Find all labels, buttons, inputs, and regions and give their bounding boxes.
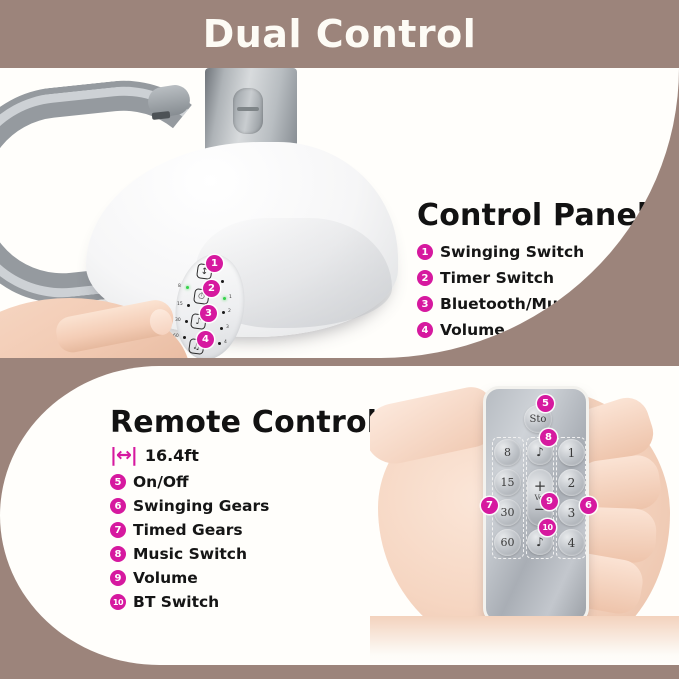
bullet-number: 8: [110, 546, 126, 562]
list-item: 9 Volume: [110, 569, 370, 587]
feature-label: BT Switch: [133, 593, 219, 611]
bullet-number: 4: [417, 322, 433, 338]
key-label: 2: [568, 476, 576, 490]
callout-badge-2: 2: [203, 280, 220, 297]
callout-badge-3: 3: [200, 305, 217, 322]
key-label: 4: [568, 536, 576, 550]
remote-callout-8: 8: [540, 429, 557, 446]
list-item: 1 Swinging Switch: [417, 243, 672, 261]
range-row: |↔| 16.4ft: [110, 446, 370, 465]
key-label: 60: [501, 536, 515, 549]
music-note-icon: ♪: [536, 445, 544, 459]
list-item: 10 BT Switch: [110, 593, 370, 611]
pole-latch-icon: [233, 88, 263, 134]
remote-feature-list: 5 On/Off 6 Swinging Gears 7 Timed Gears …: [110, 473, 370, 611]
feature-label: Volume: [133, 569, 198, 587]
pad-tick-speed-3: 3: [226, 325, 229, 330]
bullet-number: 7: [110, 522, 126, 538]
bullet-number: 3: [417, 296, 433, 312]
feature-label: Timer Switch: [440, 269, 554, 287]
range-value: 16.4ft: [145, 446, 199, 465]
list-item: 3 Bluetooth/Music Switch: [417, 295, 672, 313]
feature-label: Timed Gears: [133, 521, 243, 539]
bluetooth-music-icon: ♪: [536, 535, 544, 549]
hand-lower-fade: [370, 616, 679, 665]
bullet-number: 2: [417, 270, 433, 286]
remote-timed-key-60[interactable]: 60: [494, 529, 521, 556]
feature-label: Bluetooth/Music Switch: [440, 295, 646, 313]
remote-gear-key-4[interactable]: 4: [558, 529, 585, 556]
bullet-number: 9: [110, 570, 126, 586]
volume-up-icon[interactable]: +: [534, 479, 547, 494]
bullet-number: 5: [110, 474, 126, 490]
bullet-number: 6: [110, 498, 126, 514]
remote-control-text-block: Remote Control |↔| 16.4ft 5 On/Off 6 Swi…: [110, 405, 370, 617]
pad-tick-speed-1: 1: [229, 295, 232, 300]
list-item: 7 Timed Gears: [110, 521, 370, 539]
list-item: 5 On/Off: [110, 473, 370, 491]
remote-control-title: Remote Control: [110, 405, 370, 440]
control-panel-text-block: Control Panel 1 Swinging Switch 2 Timer …: [417, 198, 672, 347]
remote-timed-key-30[interactable]: 30: [494, 499, 521, 526]
pad-tick-timer-15: 15: [177, 302, 183, 307]
remote-callout-9: 9: [541, 493, 558, 510]
key-label: 1: [568, 446, 576, 460]
pad-tick-speed-4: 4: [224, 340, 227, 345]
remote-callout-7: 7: [481, 497, 498, 514]
callout-badge-1: 1: [206, 255, 223, 272]
remote-photo: Sto 8 15 30 60 ♪ +: [370, 366, 679, 665]
control-panel-feature-list: 1 Swinging Switch 2 Timer Switch 3 Bluet…: [417, 243, 672, 339]
feature-label: Swinging Switch: [440, 243, 584, 261]
remote-callout-5: 5: [537, 395, 554, 412]
page-title: Dual Control: [203, 12, 477, 56]
control-panel-card: ↕ ⏱ ♪ ♫ 8 15 30 60 1: [0, 68, 679, 358]
feature-label: Volume: [440, 321, 505, 339]
pad-tick-timer-30: 30: [175, 318, 181, 323]
feature-label: On/Off: [133, 473, 189, 491]
list-item: 2 Timer Switch: [417, 269, 672, 287]
callout-badge-4: 4: [197, 331, 214, 348]
remote-callout-6: 6: [580, 497, 597, 514]
remote-timed-key-8[interactable]: 8: [494, 439, 521, 466]
remote-gear-key-1[interactable]: 1: [558, 439, 585, 466]
remote-timed-key-15[interactable]: 15: [494, 469, 521, 496]
feature-label: Music Switch: [133, 545, 247, 563]
control-panel-title: Control Panel: [417, 198, 672, 233]
pad-tick-timer-8: 8: [178, 284, 181, 289]
header-banner: Dual Control: [0, 0, 679, 68]
power-key-label: Sto: [530, 414, 547, 425]
screenshot-root: Dual Control ↕ ⏱ ♪: [0, 0, 679, 679]
remote-callout-10: 10: [539, 519, 556, 536]
remote-device[interactable]: Sto 8 15 30 60 ♪ +: [483, 386, 589, 624]
bullet-number: 1: [417, 244, 433, 260]
key-label: 15: [501, 476, 515, 489]
key-label: 8: [504, 446, 511, 459]
bullet-number: 10: [110, 594, 126, 610]
feature-label: Swinging Gears: [133, 497, 269, 515]
remote-gear-key-2[interactable]: 2: [558, 469, 585, 496]
key-label: 30: [501, 506, 515, 519]
list-item: 8 Music Switch: [110, 545, 370, 563]
massager-product-photo: ↕ ⏱ ♪ ♫ 8 15 30 60 1: [0, 68, 420, 358]
list-item: 4 Volume: [417, 321, 672, 339]
key-label: 3: [568, 506, 576, 520]
distance-arrow-icon: |↔|: [110, 446, 137, 465]
list-item: 6 Swinging Gears: [110, 497, 370, 515]
pad-tick-speed-2: 2: [228, 309, 231, 314]
